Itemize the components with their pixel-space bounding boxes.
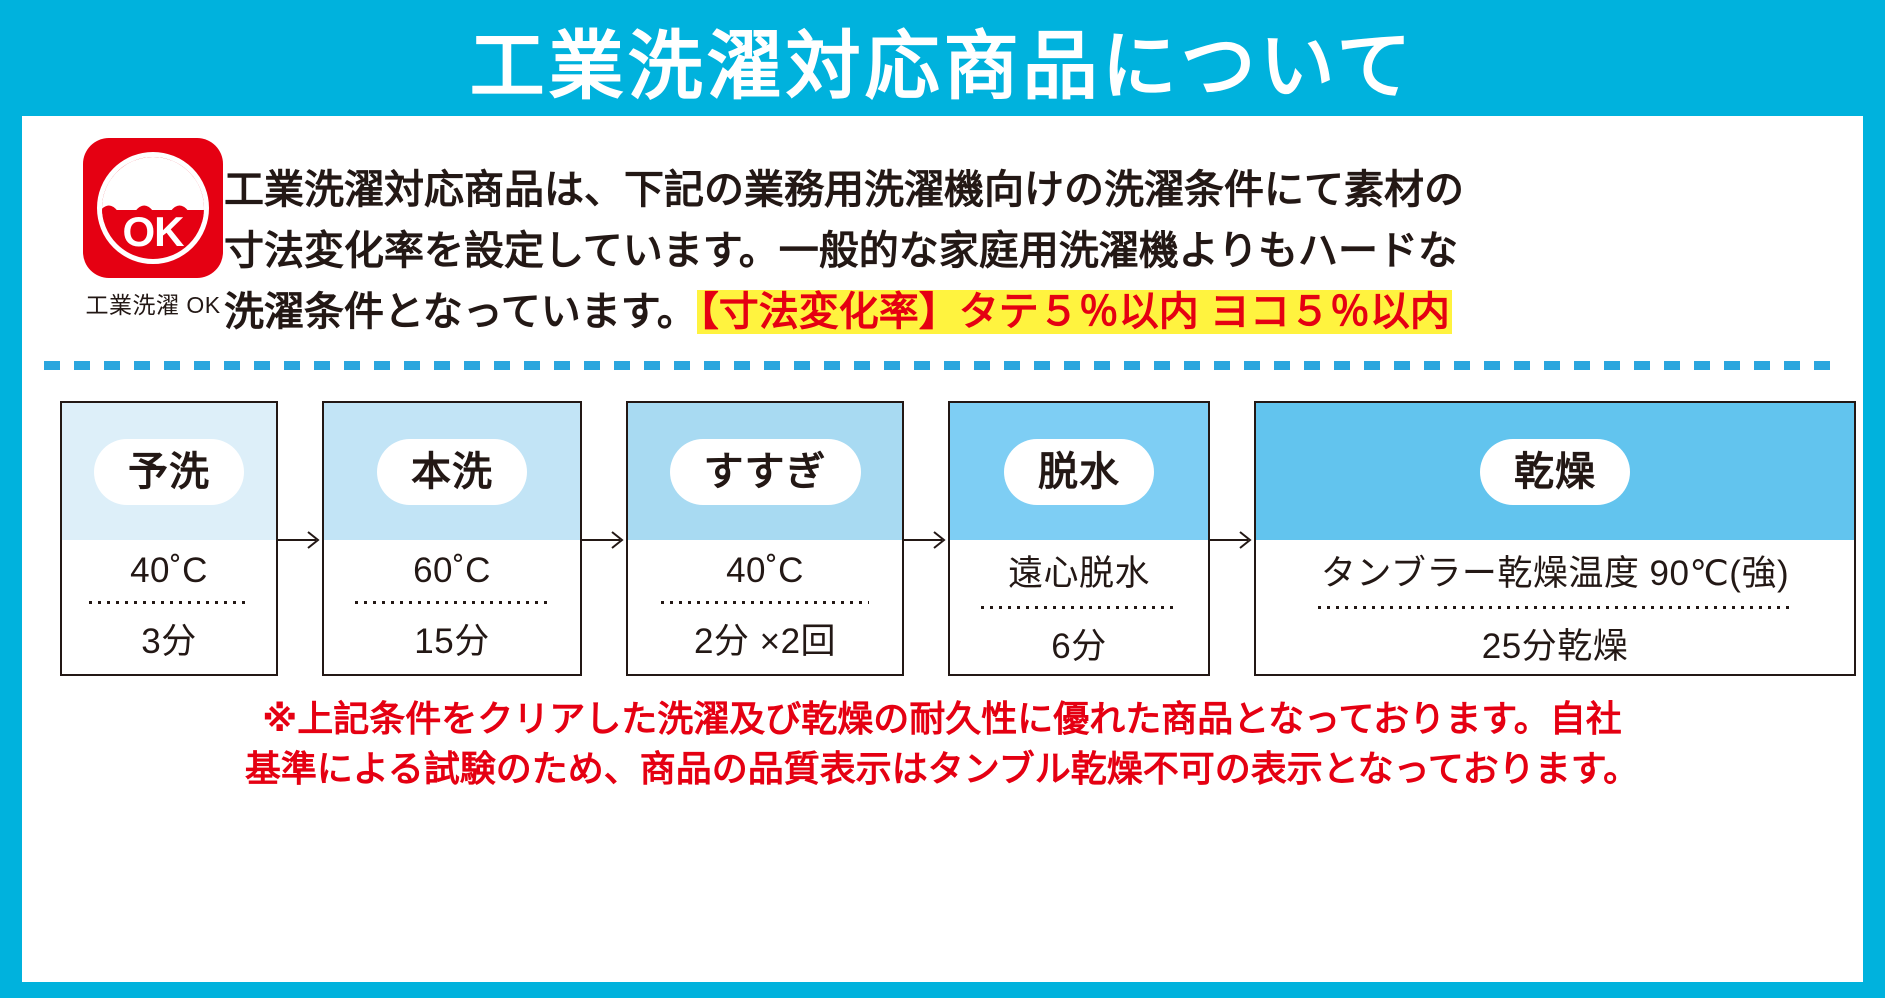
process-step-1: 予洗40˚C3分 bbox=[60, 401, 278, 676]
dimension-change-highlight: 【寸法変化率】タテ５％以内 ヨコ５％以内 bbox=[697, 290, 1452, 334]
step-label: すすぎ bbox=[670, 439, 861, 505]
logo-circle: OK bbox=[97, 152, 209, 264]
step-header: すすぎ bbox=[628, 403, 902, 540]
footer-line-1: ※上記条件をクリアした洗濯及び乾燥の耐久性に優れた商品となっております。自社 bbox=[52, 694, 1832, 744]
step-duration: 2分 ×2回 bbox=[694, 613, 836, 664]
step-duration: 3分 bbox=[141, 613, 196, 664]
arrow-right-icon bbox=[1210, 530, 1254, 550]
step-body: 40˚C3分 bbox=[62, 540, 276, 674]
step-body: 60˚C15分 bbox=[324, 540, 580, 674]
footer-line-2: 基準による試験のため、商品の品質表示はタンブル乾燥不可の表示となっております。 bbox=[52, 744, 1832, 794]
page-title: 工業洗濯対応商品について bbox=[470, 29, 1416, 104]
step-header: 予洗 bbox=[62, 403, 276, 540]
arrow-right-icon bbox=[904, 530, 948, 550]
title-banner: 工業洗濯対応商品について bbox=[0, 0, 1885, 133]
ok-logo-block: OK 工業洗濯 OK bbox=[68, 138, 238, 320]
intro-line-3-text: 洗濯条件となっています。 bbox=[224, 290, 697, 334]
step-duration: 15分 bbox=[414, 613, 489, 664]
process-step-3: すすぎ40˚C2分 ×2回 bbox=[626, 401, 904, 676]
step-temperature: タンブラー乾燥温度 90℃(強) bbox=[1321, 545, 1789, 596]
step-temperature: 遠心脱水 bbox=[1008, 545, 1150, 596]
step-temperature: 60˚C bbox=[413, 551, 491, 591]
logo-ok-text: OK bbox=[102, 210, 204, 254]
intro-line-3: 洗濯条件となっています。【寸法変化率】タテ５％以内 ヨコ５％以内 bbox=[224, 282, 1824, 343]
step-header: 乾燥 bbox=[1256, 403, 1854, 540]
step-duration: 25分乾燥 bbox=[1482, 618, 1628, 669]
step-label: 乾燥 bbox=[1480, 439, 1630, 505]
process-step-5: 乾燥タンブラー乾燥温度 90℃(強)25分乾燥 bbox=[1254, 401, 1856, 676]
step-separator bbox=[89, 601, 248, 604]
step-body: タンブラー乾燥温度 90℃(強)25分乾燥 bbox=[1256, 540, 1854, 674]
intro-line-1: 工業洗濯対応商品は、下記の業務用洗濯機向けの洗濯条件にて素材の bbox=[224, 160, 1824, 221]
intro-paragraph: 工業洗濯対応商品は、下記の業務用洗濯機向けの洗濯条件にて素材の 寸法変化率を設定… bbox=[224, 160, 1824, 342]
step-header: 脱水 bbox=[950, 403, 1208, 540]
process-flow: 予洗40˚C3分本洗60˚C15分すすぎ40˚C2分 ×2回脱水遠心脱水6分乾燥… bbox=[60, 401, 1826, 676]
logo-caption: 工業洗濯 OK bbox=[68, 286, 238, 320]
step-label: 予洗 bbox=[94, 439, 244, 505]
step-separator bbox=[661, 601, 869, 604]
infographic-page: 工業洗濯対応商品について OK 工業洗濯 OK 工業洗濯対応商品は、 bbox=[0, 0, 1885, 998]
step-label: 脱水 bbox=[1004, 439, 1154, 505]
process-step-2: 本洗60˚C15分 bbox=[322, 401, 582, 676]
step-separator bbox=[981, 606, 1176, 609]
step-separator bbox=[355, 601, 549, 604]
step-temperature: 40˚C bbox=[726, 551, 804, 591]
step-header: 本洗 bbox=[324, 403, 580, 540]
process-step-4: 脱水遠心脱水6分 bbox=[948, 401, 1210, 676]
intro-line-2: 寸法変化率を設定しています。一般的な家庭用洗濯機よりもハードな bbox=[224, 221, 1824, 282]
step-separator bbox=[1318, 606, 1792, 609]
step-body: 遠心脱水6分 bbox=[950, 540, 1208, 674]
arrow-right-icon bbox=[582, 530, 626, 550]
arrow-right-icon bbox=[278, 530, 322, 550]
intro-section: OK 工業洗濯 OK 工業洗濯対応商品は、下記の業務用洗濯機向けの洗濯条件にて素… bbox=[22, 116, 1863, 366]
footer-note: ※上記条件をクリアした洗濯及び乾燥の耐久性に優れた商品となっております。自社 基… bbox=[52, 694, 1832, 793]
dashed-divider bbox=[44, 361, 1844, 370]
content-card: OK 工業洗濯 OK 工業洗濯対応商品は、下記の業務用洗濯機向けの洗濯条件にて素… bbox=[22, 116, 1863, 982]
industrial-wash-ok-logo: OK bbox=[83, 138, 223, 278]
step-duration: 6分 bbox=[1051, 618, 1106, 669]
step-temperature: 40˚C bbox=[130, 551, 208, 591]
step-label: 本洗 bbox=[377, 439, 527, 505]
step-body: 40˚C2分 ×2回 bbox=[628, 540, 902, 674]
